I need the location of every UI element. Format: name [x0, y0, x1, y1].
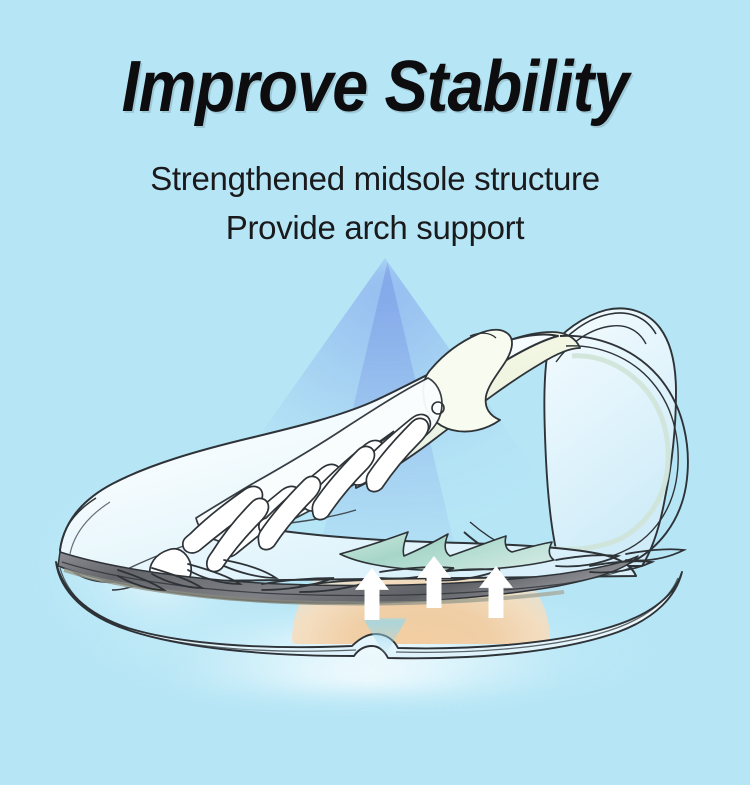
- subtitle-line-1: Strengthened midsole structure: [0, 154, 750, 203]
- subtitle-line-2: Provide arch support: [0, 203, 750, 252]
- page-subtitle: Strengthened midsole structure Provide a…: [0, 154, 750, 252]
- feature-poster: Improve Stability Strengthened midsole s…: [0, 0, 750, 785]
- page-title: Improve Stability: [38, 51, 713, 123]
